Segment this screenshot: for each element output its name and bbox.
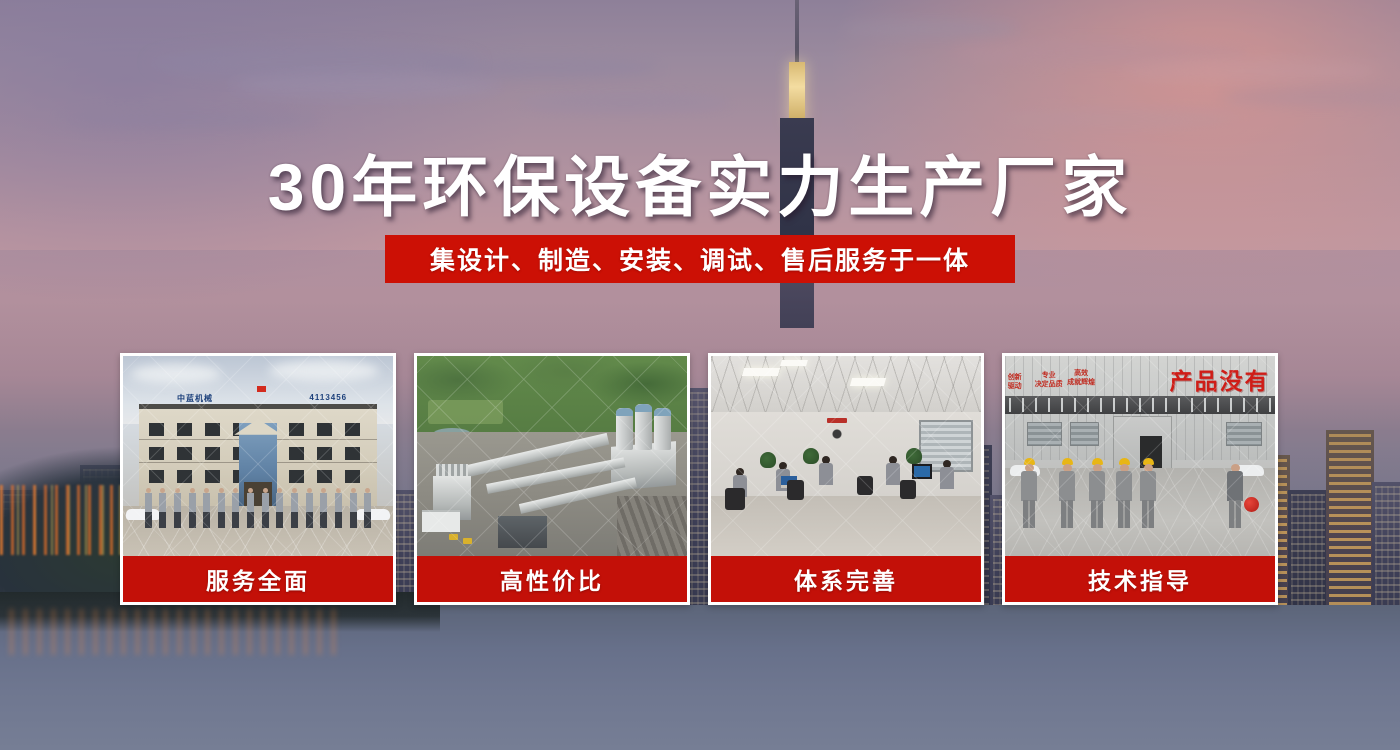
office-block bbox=[422, 510, 460, 532]
cloud bbox=[1120, 60, 1380, 82]
silo bbox=[616, 408, 633, 450]
red-helmet-held bbox=[1244, 497, 1259, 512]
office-floor bbox=[711, 496, 981, 556]
feature-card[interactable]: 高性价比 bbox=[414, 353, 690, 605]
cloud bbox=[520, 95, 730, 111]
cloud bbox=[430, 58, 660, 78]
wall-slogan-small: 创新驱动 bbox=[1008, 374, 1022, 392]
ceiling-light bbox=[850, 378, 886, 386]
card-caption-bar: 体系完善 bbox=[711, 556, 981, 602]
factory-workers-training-photo: 产品没有 创新驱动 专业决定品质 高效成就辉煌 bbox=[1005, 356, 1275, 556]
card-caption-text: 体系完善 bbox=[794, 562, 898, 596]
wall-logo bbox=[824, 422, 850, 442]
industrial-plant-aerial-photo bbox=[417, 356, 687, 556]
feature-card[interactable]: 产品没有 创新驱动 专业决定品质 高效成就辉煌 bbox=[1002, 353, 1278, 605]
cloud bbox=[1000, 110, 1240, 128]
worker bbox=[1140, 458, 1156, 528]
staff-lineup bbox=[145, 488, 372, 528]
office-chair bbox=[857, 476, 873, 495]
company-headquarters-photo: 中蓝机械 4113456 bbox=[123, 356, 393, 556]
office-chair bbox=[725, 488, 745, 510]
potted-plant bbox=[906, 448, 922, 464]
site-road bbox=[617, 496, 687, 556]
subtitle-text: 集设计、制造、安装、调试、售后服务于一体 bbox=[430, 241, 970, 277]
card-caption-bar: 服务全面 bbox=[123, 556, 393, 602]
potted-plant bbox=[760, 452, 776, 468]
card-caption-text: 技术指导 bbox=[1088, 562, 1192, 596]
factory-window bbox=[1070, 422, 1100, 446]
feature-card[interactable]: 中蓝机械 4113456 服务全面 bbox=[120, 353, 396, 605]
wall-slogan-small: 高效成就辉煌 bbox=[1067, 370, 1095, 388]
monitor bbox=[912, 464, 932, 479]
worker bbox=[1089, 458, 1105, 528]
card-caption-bar: 高性价比 bbox=[417, 556, 687, 602]
company-phone-text: 4113456 bbox=[309, 393, 347, 402]
office-chair bbox=[787, 480, 804, 500]
subtitle-banner: 集设计、制造、安装、调试、售后服务于一体 bbox=[385, 235, 1015, 283]
ceiling-light bbox=[780, 360, 808, 366]
factory-window bbox=[1226, 422, 1261, 446]
card-caption-text: 高性价比 bbox=[500, 562, 604, 596]
worker bbox=[1021, 458, 1037, 528]
feature-card[interactable]: 体系完善 bbox=[708, 353, 984, 605]
cloud bbox=[840, 20, 1020, 38]
potted-plant bbox=[803, 448, 819, 464]
excavator bbox=[449, 534, 458, 540]
card-caption-bar: 技术指导 bbox=[1005, 556, 1275, 602]
silo bbox=[635, 404, 652, 450]
office-ceiling bbox=[711, 356, 981, 412]
page-title: 30年环保设备实力生产厂家 bbox=[0, 134, 1400, 230]
supervisor bbox=[1227, 458, 1243, 528]
tower-spire-lights bbox=[789, 62, 805, 124]
excavator bbox=[463, 538, 472, 544]
water-light-reflections bbox=[10, 609, 340, 655]
worker bbox=[1116, 458, 1132, 528]
cloud bbox=[230, 72, 500, 98]
plant-shed bbox=[498, 516, 547, 548]
farm-field bbox=[428, 400, 504, 424]
office-chair bbox=[900, 480, 916, 499]
company-sign-text: 中蓝机械 bbox=[177, 393, 213, 404]
flag bbox=[257, 386, 266, 392]
factory-wall-slogan: 产品没有 bbox=[1170, 362, 1270, 396]
cloud bbox=[60, 110, 320, 130]
feature-card-row: 中蓝机械 4113456 服务全面 bbox=[120, 353, 1278, 605]
card-caption-text: 服务全面 bbox=[206, 562, 310, 596]
factory-window-band bbox=[1005, 396, 1275, 414]
ceiling-light bbox=[742, 368, 780, 376]
wall-slogan-small: 专业决定品质 bbox=[1035, 372, 1063, 390]
worker bbox=[1059, 458, 1075, 528]
office-interior-photo bbox=[711, 356, 981, 556]
promotional-banner: 30年环保设备实力生产厂家 集设计、制造、安装、调试、售后服务于一体 bbox=[0, 0, 1400, 750]
silo bbox=[654, 408, 671, 450]
factory-window bbox=[1027, 422, 1062, 446]
